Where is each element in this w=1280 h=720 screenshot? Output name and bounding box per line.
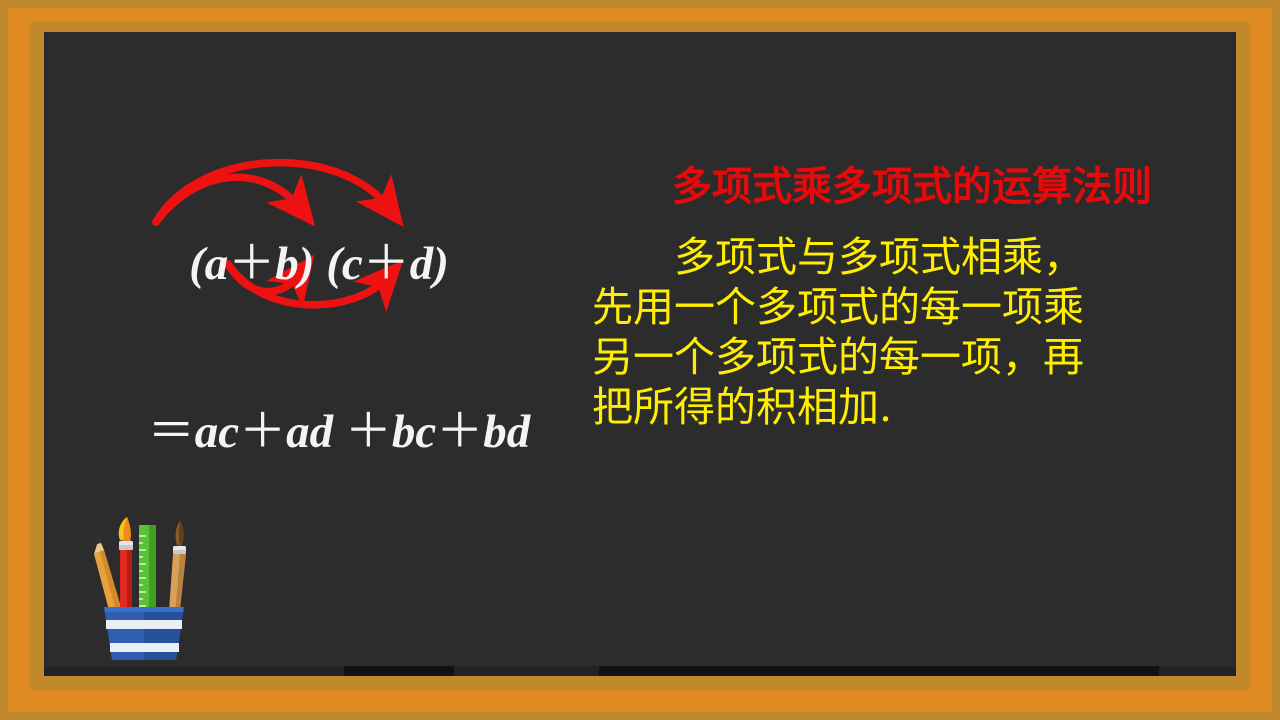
result-term-ad: ad bbox=[286, 406, 333, 458]
result-plus-1: ＋ bbox=[239, 406, 286, 458]
formula-close-paren-2: ) bbox=[433, 238, 449, 290]
rule-line-2: 先用一个多项式的每一项乘 bbox=[592, 282, 1232, 332]
slide-root: (a＋b) (c＋d) ＝ac＋ad ＋bc＋bd 多项式乘多项式的运算法则 多… bbox=[0, 0, 1280, 720]
blue-cup-icon bbox=[104, 607, 184, 660]
rule-line-4: 把所得的积相加. bbox=[592, 382, 1232, 432]
rule-line-1: 多项式与多项式相乘， bbox=[592, 232, 1232, 282]
formula-term-a: a bbox=[205, 238, 229, 290]
formula-term-d: d bbox=[410, 238, 434, 290]
formula-plus-2: ＋ bbox=[363, 238, 410, 290]
formula-plus-1: ＋ bbox=[228, 238, 275, 290]
stationery-cup-illustration bbox=[86, 512, 206, 662]
formula-zone: (a＋b) (c＋d) ＝ac＋ad ＋bc＋bd bbox=[104, 142, 584, 502]
result-equals-sign: ＝ bbox=[148, 406, 195, 458]
formula-result: ＝ac＋ad ＋bc＋bd bbox=[104, 392, 574, 461]
result-term-bd: bd bbox=[483, 406, 530, 458]
rule-body: 多项式与多项式相乘， 先用一个多项式的每一项乘 另一个多项式的每一项，再 把所得… bbox=[592, 232, 1232, 432]
result-term-bc: bc bbox=[392, 406, 436, 458]
arrow-a-to-c bbox=[156, 177, 300, 222]
ledge-shadow-segment-1 bbox=[344, 666, 454, 676]
rule-line-3: 另一个多项式的每一项，再 bbox=[592, 332, 1232, 382]
result-plus-2: ＋ bbox=[345, 406, 392, 458]
formula-expression: (a＋b) (c＋d) bbox=[104, 224, 534, 293]
formula-open-paren-1: ( bbox=[189, 238, 205, 290]
chalkboard-ledge bbox=[44, 666, 1236, 676]
stationery-svg bbox=[86, 512, 206, 662]
result-plus-3: ＋ bbox=[436, 406, 483, 458]
result-term-ac: ac bbox=[195, 406, 239, 458]
rule-zone: 多项式乘多项式的运算法则 多项式与多项式相乘， 先用一个多项式的每一项乘 另一个… bbox=[592, 164, 1232, 432]
chalkboard: (a＋b) (c＋d) ＝ac＋ad ＋bc＋bd 多项式乘多项式的运算法则 多… bbox=[44, 32, 1236, 676]
formula-term-b: b bbox=[275, 238, 299, 290]
formula-close-paren-1: ) bbox=[299, 238, 315, 290]
formula-term-c: c bbox=[342, 238, 363, 290]
rule-title: 多项式乘多项式的运算法则 bbox=[592, 164, 1232, 210]
formula-open-paren-2: ( bbox=[326, 238, 342, 290]
ledge-shadow-segment-2 bbox=[599, 666, 1159, 676]
